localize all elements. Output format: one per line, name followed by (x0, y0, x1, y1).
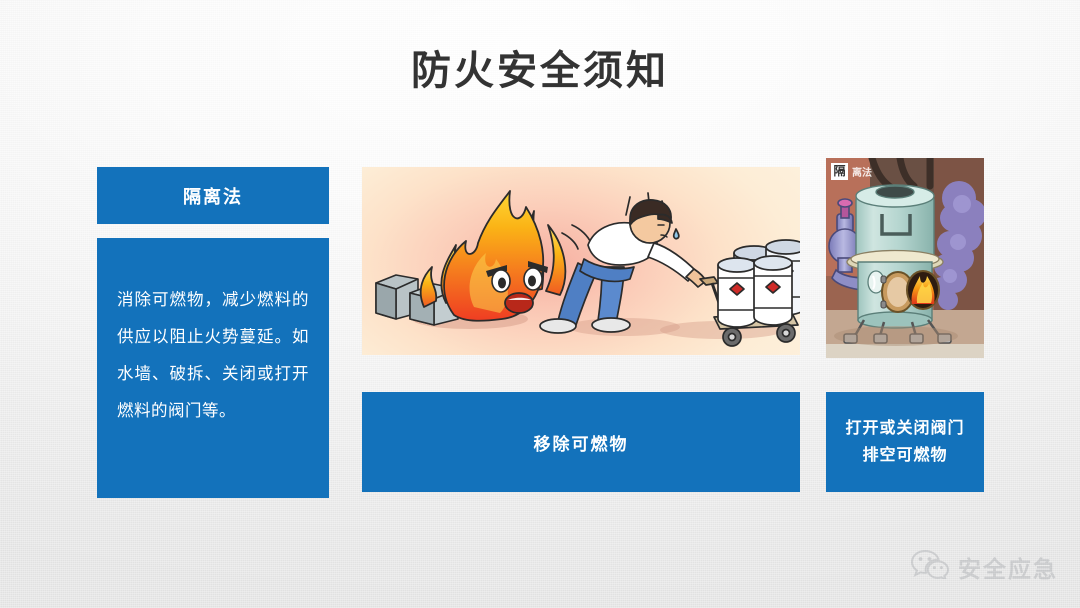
right-image-badge: 隔 离法 (831, 163, 872, 180)
badge-char: 隔 (831, 163, 848, 180)
badge-text: 离法 (852, 164, 872, 179)
center-caption-label: 移除可燃物 (534, 430, 629, 455)
right-illustration: 隔 离法 (826, 158, 984, 358)
page-title: 防火安全须知 (0, 38, 1080, 96)
right-illustration-art (826, 158, 984, 358)
center-caption-bar: 移除可燃物 (362, 392, 800, 492)
left-panel-body: 消除可燃物，减少燃料的供应以阻止火势蔓延。如水墙、破拆、关闭或打开燃料的阀门等。 (97, 238, 329, 498)
center-illustration-art (362, 167, 800, 355)
right-caption-line2: 排空可燃物 (862, 442, 947, 469)
left-panel-header: 隔离法 (97, 167, 329, 224)
slide-canvas: 防火安全须知 隔离法 消除可燃物，减少燃料的供应以阻止火势蔓延。如水墙、破拆、关… (0, 0, 1080, 608)
left-panel-body-text: 消除可燃物，减少燃料的供应以阻止火势蔓延。如水墙、破拆、关闭或打开燃料的阀门等。 (117, 282, 309, 430)
right-caption-line1: 打开或关闭阀门 (845, 415, 964, 442)
watermark-label: 安全应急 (958, 550, 1058, 584)
watermark: 安全应急 (911, 549, 1058, 584)
left-panel-header-label: 隔离法 (183, 183, 243, 209)
wechat-icon (911, 549, 949, 584)
center-illustration (362, 167, 800, 355)
right-caption-bar: 打开或关闭阀门 排空可燃物 (826, 392, 984, 492)
